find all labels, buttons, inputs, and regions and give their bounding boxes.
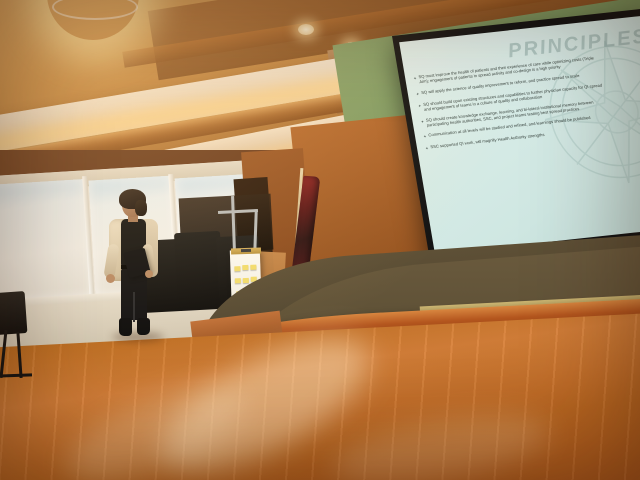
sticky-note [242, 265, 248, 270]
foreground-chair [0, 291, 27, 335]
bullet-diamond-icon: ✦ [415, 90, 420, 97]
flip-chart-clamp [241, 249, 251, 252]
sticky-note [243, 278, 249, 283]
projection-screen: PRINCIPLES ✦ SQ must improve the health … [392, 8, 640, 273]
recessed-pot-light-icon [298, 24, 314, 35]
presenter-boot-right [137, 318, 150, 335]
sticky-note [250, 265, 256, 270]
bullet-diamond-icon: ✦ [425, 145, 430, 152]
bullet-diamond-icon: ✦ [420, 118, 425, 129]
sticky-note [235, 278, 241, 283]
presenter [104, 192, 166, 344]
window-pane-1 [0, 179, 94, 303]
bullet-diamond-icon: ✦ [413, 75, 418, 86]
sticky-note [234, 266, 240, 271]
presenter-hair-back [135, 200, 147, 216]
presentation-room-photo: PRINCIPLES ✦ SQ must improve the health … [0, 0, 640, 480]
presenter-hand-right [145, 270, 153, 278]
presenter-leg-separation [133, 292, 135, 322]
screen-surface: PRINCIPLES ✦ SQ must improve the health … [399, 15, 640, 254]
bullet-diamond-icon: ✦ [417, 102, 422, 113]
presenter-boot-left [119, 318, 132, 336]
presenter-hand-left [106, 274, 115, 283]
bullet-diamond-icon: ✦ [423, 133, 428, 140]
